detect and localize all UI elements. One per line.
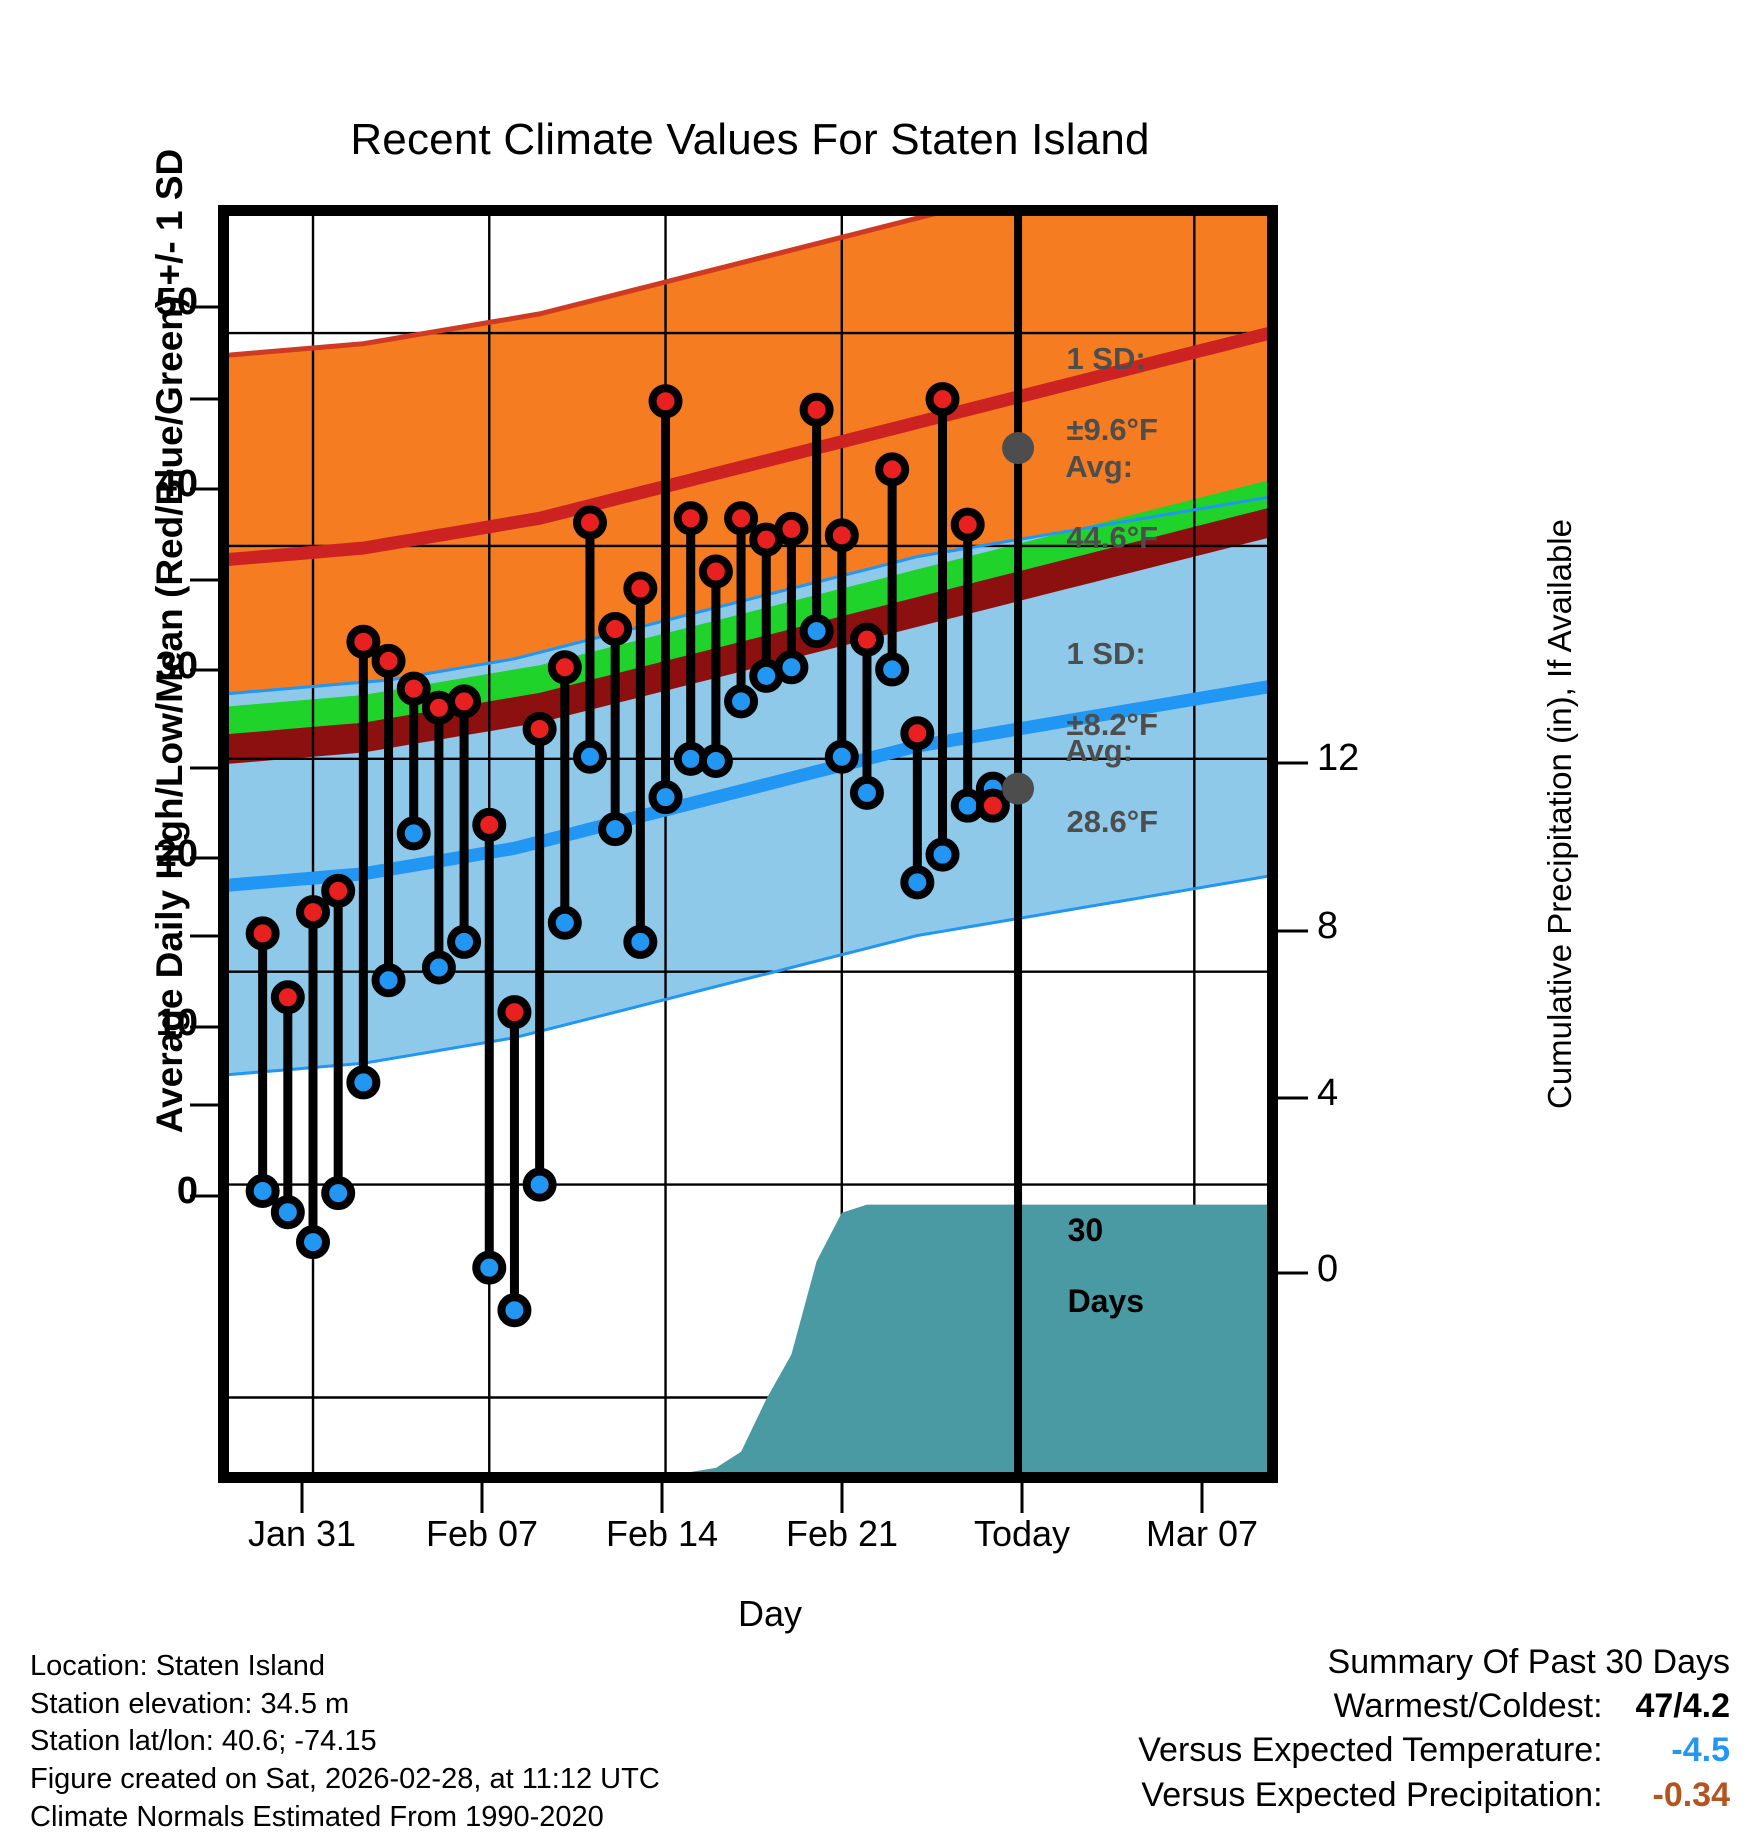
summary-label-vs-precipitation: Versus Expected Precipitation: xyxy=(1141,1776,1602,1814)
summary-row-warmest-coldest: Warmest/Coldest: 47/4.2 xyxy=(1138,1684,1730,1728)
high-avg-annotation: Avg: 44.6°F xyxy=(1032,413,1158,591)
high-avg-label: Avg: xyxy=(1065,449,1133,484)
summary-value-warmest-coldest: 47/4.2 xyxy=(1612,1684,1730,1728)
high-sd-label: 1 SD: xyxy=(1066,341,1145,376)
precip-window-annotation: 30 Days xyxy=(1032,1177,1144,1356)
station-metadata: Location: Staten Island Station elevatio… xyxy=(30,1648,660,1836)
metadata-latlon: Station lat/lon: 40.6; -74.15 xyxy=(30,1723,660,1761)
metadata-created: Figure created on Sat, 2026-02-28, at 11… xyxy=(30,1761,660,1799)
precip-window-count: 30 xyxy=(1068,1212,1104,1248)
low-sd-label: 1 SD: xyxy=(1066,636,1145,671)
low-avg-annotation: Avg: 28.6°F xyxy=(1032,697,1158,875)
high-avg-value: 44.6°F xyxy=(1066,520,1158,555)
summary-label-warmest-coldest: Warmest/Coldest: xyxy=(1334,1687,1603,1725)
summary-label-vs-temperature: Versus Expected Temperature: xyxy=(1138,1731,1602,1769)
summary-value-vs-precipitation: -0.34 xyxy=(1612,1773,1730,1817)
metadata-location: Location: Staten Island xyxy=(30,1648,660,1686)
summary-row-vs-temperature: Versus Expected Temperature: -4.5 xyxy=(1138,1728,1730,1772)
metadata-elevation: Station elevation: 34.5 m xyxy=(30,1686,660,1724)
summary-row-vs-precipitation: Versus Expected Precipitation: -0.34 xyxy=(1138,1773,1730,1817)
summary-title: Summary Of Past 30 Days xyxy=(1138,1640,1730,1684)
axis-ticks xyxy=(0,0,1748,1828)
climate-chart-page: Recent Climate Values For Staten Island … xyxy=(0,0,1748,1828)
low-avg-value: 28.6°F xyxy=(1066,804,1158,839)
summary-panel: Summary Of Past 30 Days Warmest/Coldest:… xyxy=(1138,1640,1730,1817)
low-avg-label: Avg: xyxy=(1065,733,1133,768)
precip-window-unit: Days xyxy=(1068,1283,1145,1319)
summary-value-vs-temperature: -4.5 xyxy=(1612,1728,1730,1772)
metadata-normals: Climate Normals Estimated From 1990-2020 xyxy=(30,1799,660,1836)
